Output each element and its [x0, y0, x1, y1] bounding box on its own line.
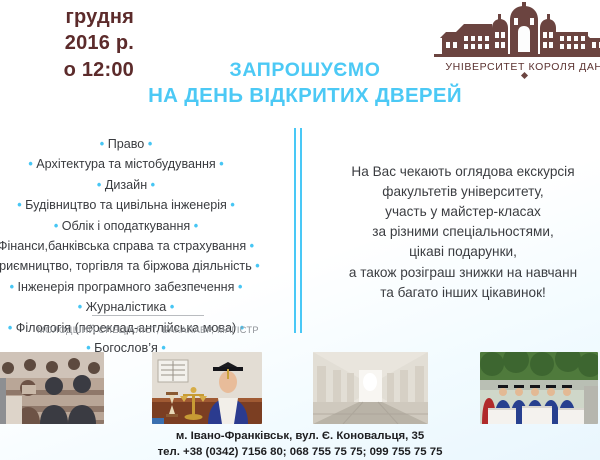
university-building-icon: [424, 2, 600, 60]
list-item-label: Право: [108, 137, 145, 151]
footer-phone: тел. +38 (0342) 7156 80; 068 755 75 75; …: [0, 444, 600, 460]
graduation-ceremony-photo: [480, 352, 598, 424]
divider-line-right: [300, 128, 302, 333]
photo-strip: [0, 352, 600, 424]
bullet-icon: •: [100, 137, 104, 151]
bullet-icon: •: [170, 300, 174, 314]
bullet-icon: •: [17, 198, 21, 212]
bullet-icon: •: [219, 157, 223, 171]
degree-levels: МОЛОДШИЙ СПЕЦІАЛІСТ, БАКАЛАВР, МАГІСТР: [0, 325, 296, 335]
list-item: • Дизайн •: [0, 175, 286, 195]
bullet-icon: •: [10, 280, 14, 294]
list-item: • Архітектура та містобудування •: [0, 154, 286, 174]
list-item-label: Журналістика: [86, 300, 167, 314]
vertical-divider: [294, 128, 303, 333]
graduate-at-desk-photo: [152, 352, 262, 424]
event-date: грудня 2016 р. о 12:00: [0, 4, 134, 83]
invitation-line-5: цікаві подарунки,: [318, 242, 600, 262]
poster-canvas: грудня 2016 р. о 12:00: [0, 0, 600, 460]
list-item: • Інженерія програмного забезпечення •: [0, 277, 286, 297]
bullet-icon: •: [238, 280, 242, 294]
list-item: приємництво, торгівля та біржова діяльні…: [0, 256, 286, 276]
list-item-label: приємництво, торгівля та біржова діяльні…: [0, 259, 252, 273]
event-date-line-1: грудня: [0, 4, 134, 30]
footer-contact: м. Івано-Франківськ, вул. Є. Коновальця,…: [0, 428, 600, 460]
list-item-label: Облік і оподаткування: [62, 219, 191, 233]
headline-line-1: ЗАПРОШУЄМО: [120, 58, 490, 83]
invitation-line-7: та багато інших цікавинок!: [318, 283, 600, 303]
invitation-line-3: участь у майстер-класах: [318, 202, 600, 222]
page-title: ЗАПРОШУЄМО НА ДЕНЬ ВІДКРИТИХ ДВЕРЕЙ: [120, 58, 490, 109]
invitation-line-1: На Вас чекають оглядова екскурсія: [318, 162, 600, 182]
bullet-icon: •: [97, 178, 101, 192]
corridor-photo: [313, 352, 428, 424]
list-item: Фінанси,банківська справа та страхування…: [0, 236, 286, 256]
bullet-icon: •: [78, 300, 82, 314]
list-item-label: Фінанси,банківська справа та страхування: [0, 239, 246, 253]
list-item-label: Інженерія програмного забезпечення: [18, 280, 235, 294]
list-item: • Будівництво та цивільна інженерія •: [0, 195, 286, 215]
bullet-icon: •: [28, 157, 32, 171]
invitation-text: На Вас чекають оглядова екскурсія факуль…: [318, 162, 600, 303]
bullet-icon: •: [148, 137, 152, 151]
list-item: • Право •: [0, 134, 286, 154]
specialties-divider: [92, 315, 204, 316]
list-item-label: Дизайн: [105, 178, 147, 192]
list-item-label: Будівництво та цивільна інженерія: [25, 198, 227, 212]
bullet-icon: •: [230, 198, 234, 212]
bullet-icon: •: [250, 239, 254, 253]
invitation-line-2: факультетів університету,: [318, 182, 600, 202]
bullet-icon: •: [54, 219, 58, 233]
event-date-line-2: 2016 р.: [0, 30, 134, 56]
event-date-line-3: о 12:00: [0, 57, 134, 83]
bullet-icon: •: [194, 219, 198, 233]
lecture-hall-photo: [0, 352, 104, 424]
footer-address: м. Івано-Франківськ, вул. Є. Коновальця,…: [0, 428, 600, 444]
invitation-line-6: а також розіграш знижки на навчанн: [318, 263, 600, 283]
list-item: • Облік і оподаткування •: [0, 216, 286, 236]
invitation-line-4: за різними спеціальностями,: [318, 222, 600, 242]
divider-line-left: [294, 128, 296, 333]
bullet-icon: •: [255, 259, 259, 273]
headline-line-2: НА ДЕНЬ ВІДКРИТИХ ДВЕРЕЙ: [120, 83, 490, 109]
bullet-icon: •: [151, 178, 155, 192]
list-item-label: Архітектура та містобудування: [36, 157, 215, 171]
